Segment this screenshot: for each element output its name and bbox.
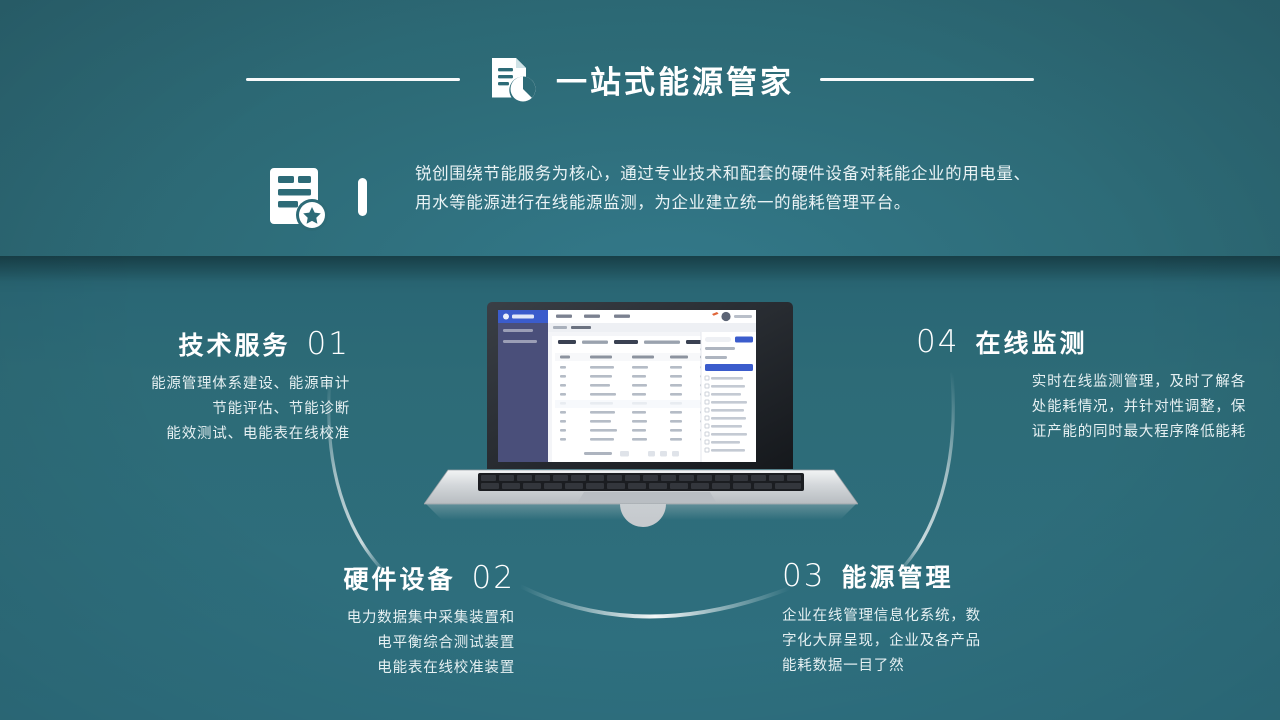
laptop-screen [498, 310, 756, 484]
feature-block-04: 04 在线监测 实时在线监测管理，及时了解各 处能耗情况，并针对性调整，保 证产… [916, 324, 1246, 445]
title-row: 一站式能源管家 [0, 52, 1280, 106]
feature-line: 字化大屏呈现，企业及各产品 [782, 629, 1112, 654]
feature-line: 能耗数据一目了然 [782, 654, 1112, 679]
feature-block-02: 硬件设备 02 电力数据集中采集装置和 电平衡综合测试装置 电能表在线校准装置 [205, 560, 515, 681]
feature-line: 能源管理体系建设、能源审计 [30, 372, 350, 397]
header-section: 一站式能源管家 锐创围绕节能服务为核心，通过专业技术和配套的硬件设备对耗能企业的… [0, 0, 1280, 256]
feature-number-01: 01 [307, 326, 350, 362]
feature-title-01: 技术服务 [179, 326, 291, 362]
feature-description-04: 实时在线监测管理，及时了解各 处能耗情况，并针对性调整，保 证产能的同时最大程序… [916, 370, 1246, 445]
page-title: 一站式能源管家 [556, 57, 794, 102]
arc-bottom [520, 586, 790, 617]
feature-number-02: 02 [472, 560, 515, 596]
feature-line: 电能表在线校准装置 [205, 656, 515, 681]
description-text: 锐创围绕节能服务为核心，通过专业技术和配套的硬件设备对耗能企业的用电量、 用水等… [415, 160, 1031, 218]
feature-heading-01: 技术服务 01 [30, 326, 350, 362]
feature-line: 处能耗情况，并针对性调整，保 [916, 395, 1246, 420]
document-star-icon [268, 164, 332, 234]
description-line-1: 锐创围绕节能服务为核心，通过专业技术和配套的硬件设备对耗能企业的用电量、 [415, 160, 1031, 189]
feature-block-01: 技术服务 01 能源管理体系建设、能源审计 节能评估、节能诊断 能效测试、电能表… [30, 326, 350, 447]
title-divider-right [820, 78, 1034, 81]
feature-description-03: 企业在线管理信息化系统，数 字化大屏呈现，企业及各产品 能耗数据一目了然 [782, 604, 1112, 679]
feature-description-01: 能源管理体系建设、能源审计 节能评估、节能诊断 能效测试、电能表在线校准 [30, 372, 350, 447]
feature-number-04: 04 [916, 324, 959, 360]
feature-line: 能效测试、电能表在线校准 [30, 422, 350, 447]
laptop-mockup [424, 296, 858, 528]
feature-line: 实时在线监测管理，及时了解各 [916, 370, 1246, 395]
feature-heading-02: 硬件设备 02 [205, 560, 515, 596]
feature-description-02: 电力数据集中采集装置和 电平衡综合测试装置 电能表在线校准装置 [205, 606, 515, 681]
laptop-trackpad [578, 492, 716, 502]
feature-line: 节能评估、节能诊断 [30, 397, 350, 422]
laptop-reflection [426, 504, 856, 520]
feature-line: 电力数据集中采集装置和 [205, 606, 515, 631]
feature-heading-04: 04 在线监测 [916, 324, 1246, 360]
document-chart-icon [486, 53, 538, 105]
feature-line: 证产能的同时最大程序降低能耗 [916, 420, 1246, 445]
feature-line: 企业在线管理信息化系统，数 [782, 604, 1112, 629]
description-block: 锐创围绕节能服务为核心，通过专业技术和配套的硬件设备对耗能企业的用电量、 用水等… [268, 160, 1031, 234]
feature-block-03: 03 能源管理 企业在线管理信息化系统，数 字化大屏呈现，企业及各产品 能耗数据… [782, 558, 1112, 679]
feature-line: 电平衡综合测试装置 [205, 631, 515, 656]
feature-title-04: 在线监测 [975, 324, 1087, 360]
feature-number-03: 03 [782, 558, 825, 594]
description-accent-bar [358, 178, 367, 216]
feature-title-02: 硬件设备 [344, 560, 456, 596]
description-line-2: 用水等能源进行在线能源监测，为企业建立统一的能耗管理平台。 [415, 189, 1031, 218]
title-divider-left [246, 78, 460, 81]
feature-heading-03: 03 能源管理 [782, 558, 1112, 594]
feature-title-03: 能源管理 [841, 558, 953, 594]
